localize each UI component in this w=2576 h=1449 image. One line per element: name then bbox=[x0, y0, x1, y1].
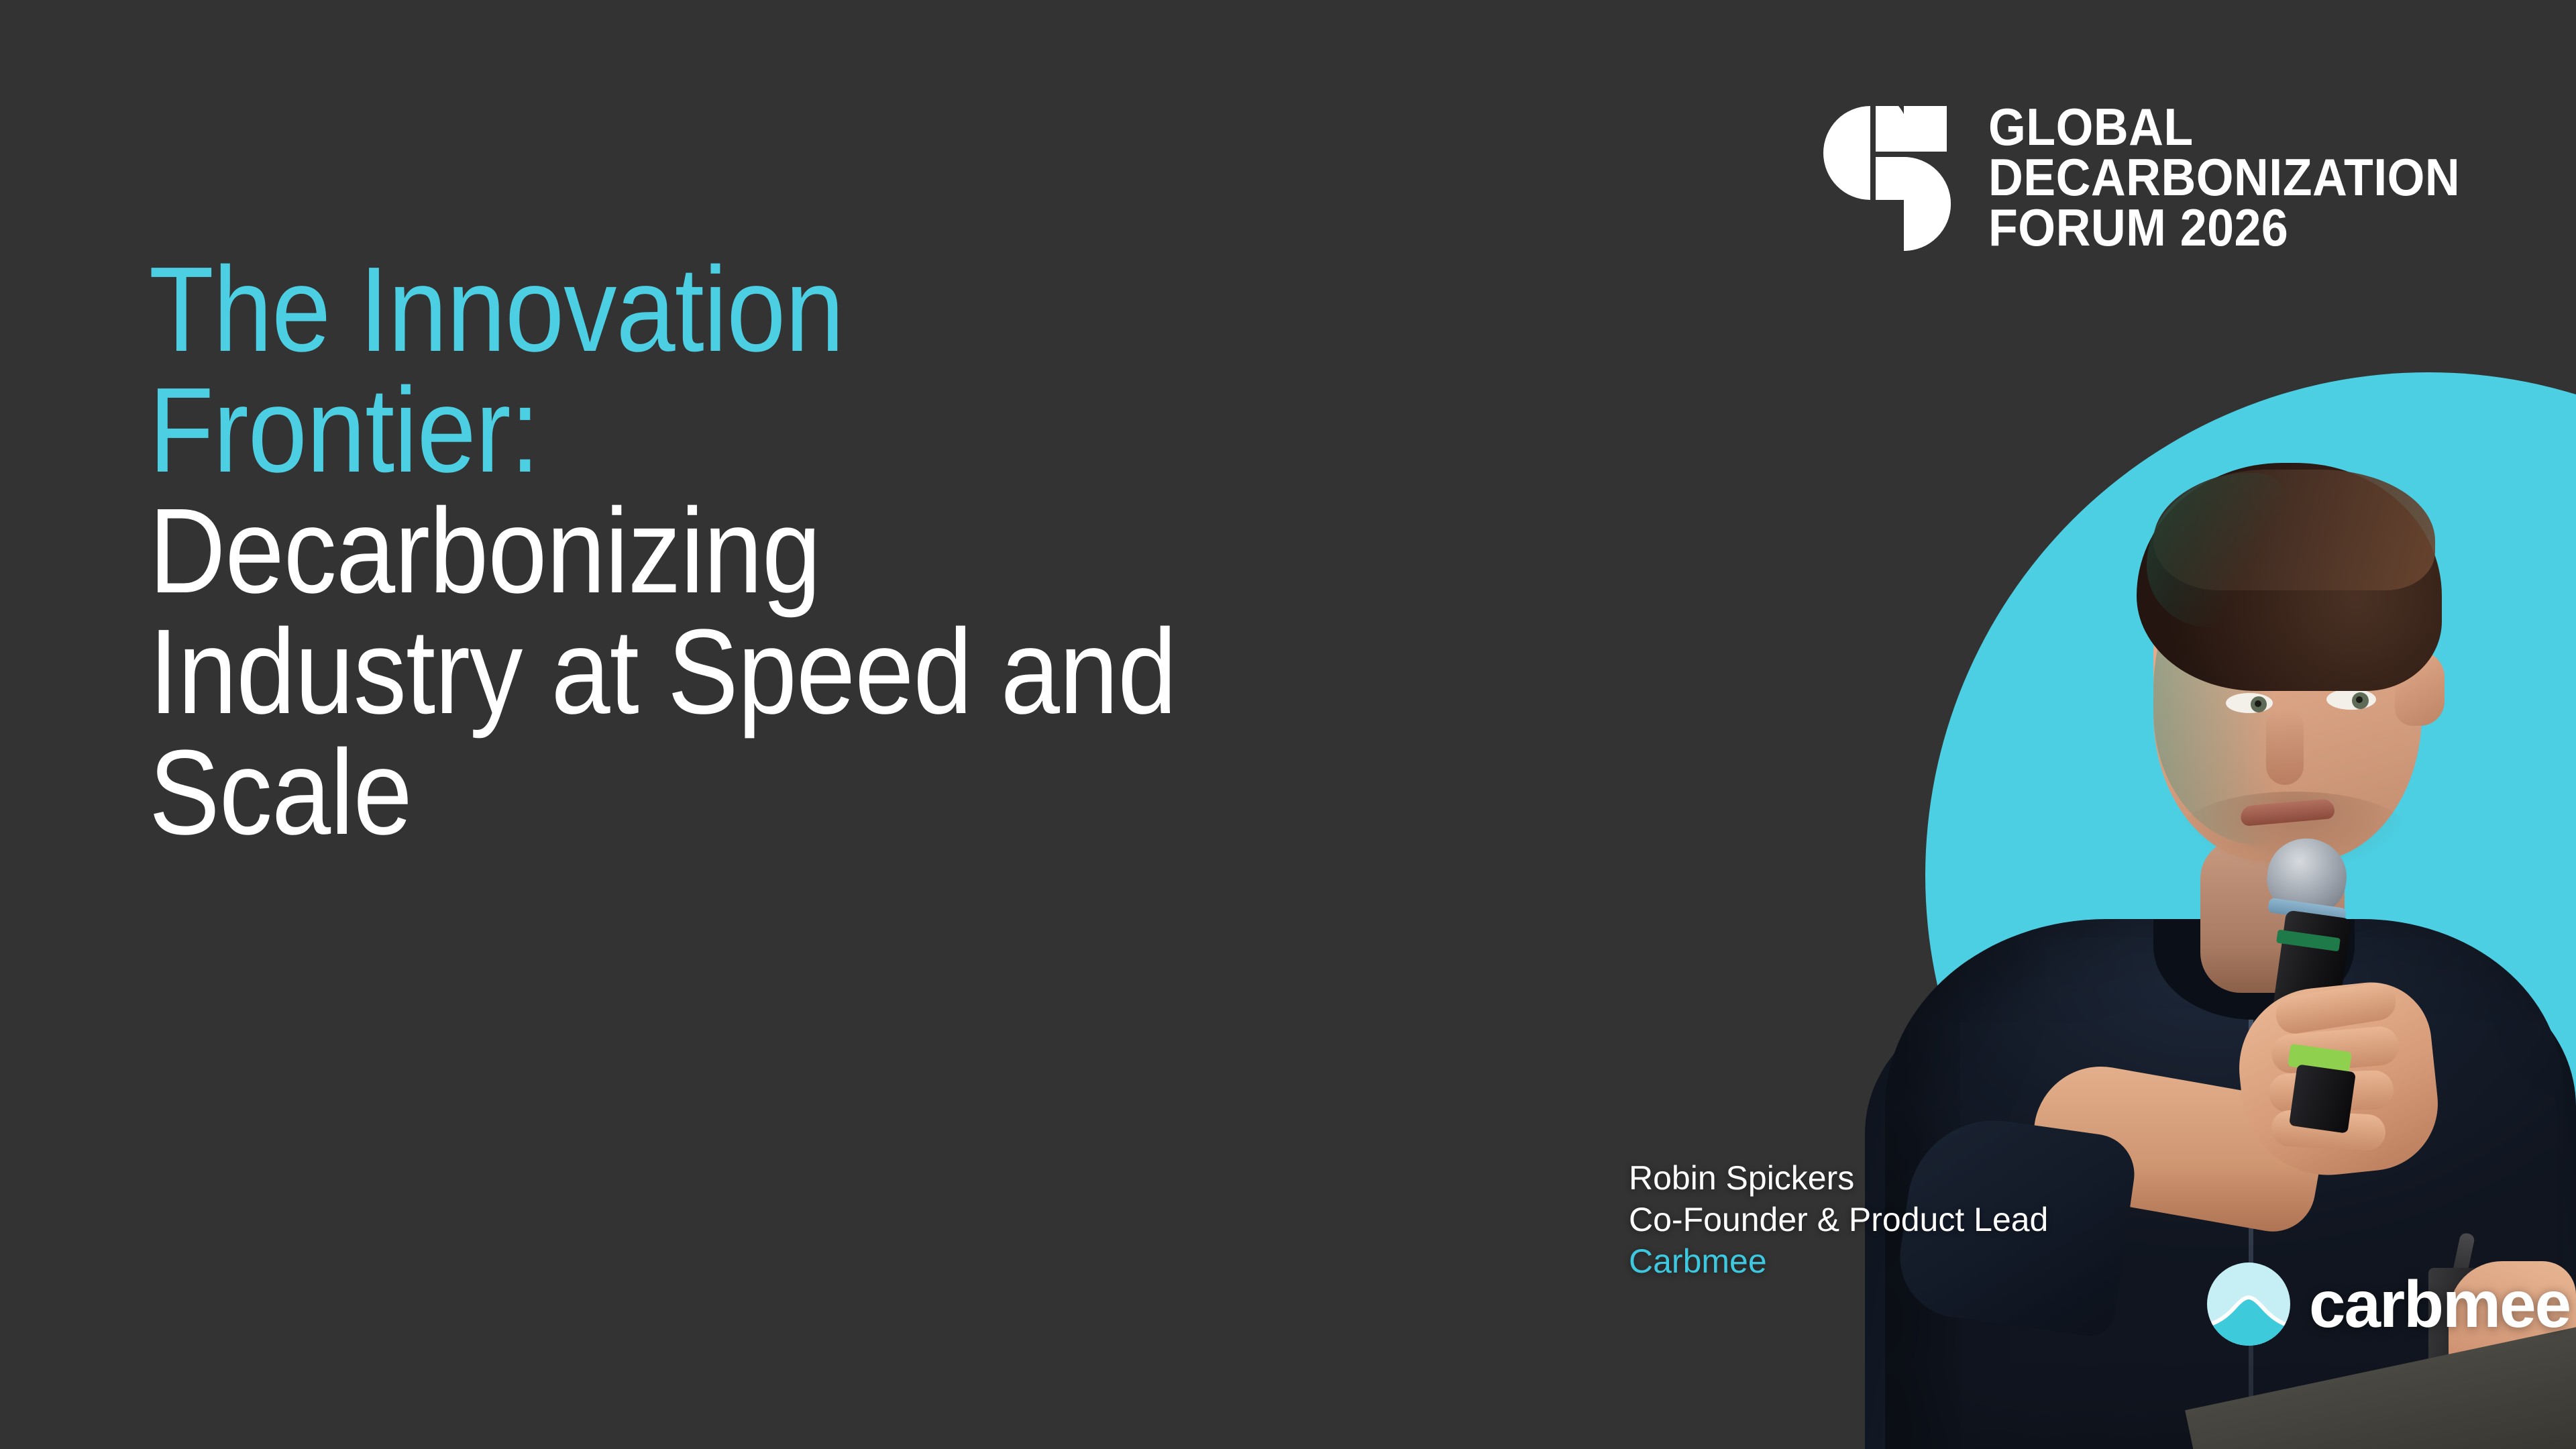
speaker-role: Co-Founder & Product Lead bbox=[1629, 1199, 2048, 1240]
title-accent-line-1: The Innovation bbox=[149, 250, 1696, 370]
speaker-company: Carbmee bbox=[1629, 1240, 2048, 1282]
hair-highlight bbox=[2147, 473, 2288, 627]
carbmee-logo: carbmee bbox=[2206, 1261, 2570, 1347]
gdf-monogram-icon bbox=[1819, 102, 1951, 255]
event-name-line3: FORUM 2026 bbox=[1988, 203, 2460, 253]
event-name-line1: GLOBAL bbox=[1988, 102, 2460, 152]
title-main-line-3: Scale bbox=[149, 733, 1696, 853]
event-logo: GLOBAL DECARBONIZATION FORUM 2026 bbox=[1819, 102, 2501, 255]
title-main-line-1: Decarbonizing bbox=[149, 491, 1696, 612]
nose bbox=[2266, 711, 2304, 785]
speaker-name: Robin Spickers bbox=[1629, 1157, 2048, 1199]
title-accent-line-2: Frontier: bbox=[149, 370, 1696, 491]
microphone-base bbox=[2289, 1064, 2356, 1133]
event-name: GLOBAL DECARBONIZATION FORUM 2026 bbox=[1988, 102, 2460, 253]
pupil-right bbox=[2352, 692, 2369, 709]
presentation-slide: GLOBAL DECARBONIZATION FORUM 2026 The In… bbox=[0, 0, 2576, 1449]
carbmee-wordmark: carbmee bbox=[2309, 1271, 2570, 1337]
pupil-left bbox=[2251, 696, 2267, 712]
title-main-line-2: Industry at Speed and bbox=[149, 612, 1696, 733]
speaker-credit: Robin Spickers Co-Founder & Product Lead… bbox=[1629, 1157, 2048, 1282]
page-title: The Innovation Frontier: Decarbonizing I… bbox=[149, 250, 1696, 853]
carbmee-circle-icon bbox=[2206, 1261, 2292, 1347]
event-name-line2: DECARBONIZATION bbox=[1988, 152, 2460, 203]
